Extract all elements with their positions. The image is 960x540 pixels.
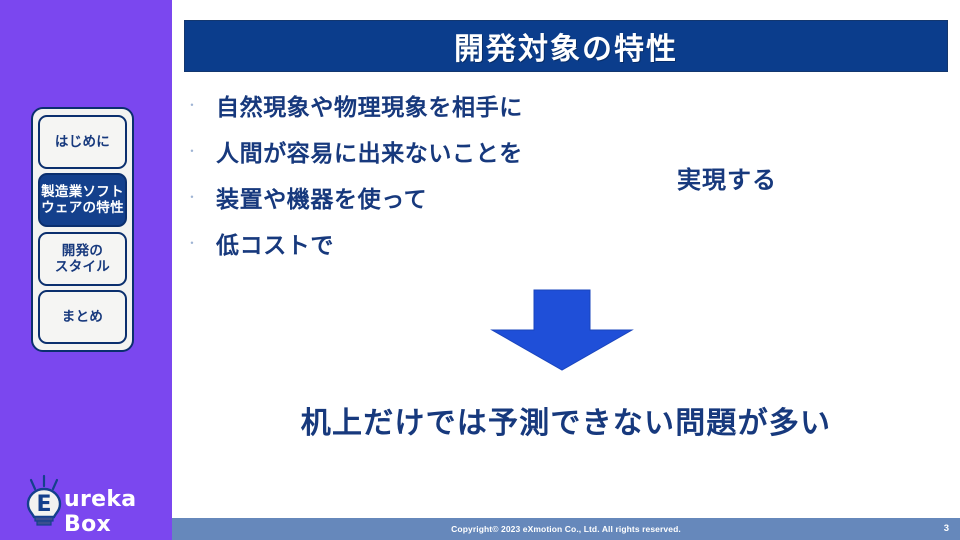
brand-logo: E ureka Box xyxy=(22,474,162,530)
side-emphasis-text: 実現する xyxy=(677,160,777,195)
list-item-label: 低コストで xyxy=(200,226,334,260)
slide-title-bar: 開発対象の特性 xyxy=(184,20,948,72)
list-item: • 自然現象や物理現象を相手に xyxy=(184,82,654,128)
sidebar-item-summary[interactable]: まとめ xyxy=(38,290,127,344)
list-item: • 人間が容易に出来ないことを xyxy=(184,128,654,174)
sidebar-item-hajimeni[interactable]: はじめに xyxy=(38,115,127,169)
list-item-label: 自然現象や物理現象を相手に xyxy=(200,88,523,122)
sidebar-item-label: はじめに xyxy=(55,134,110,150)
sidebar-item-manufacturing-software[interactable]: 製造業ソフト ウェアの特性 xyxy=(38,173,127,227)
conclusion-text: 机上だけでは予測できない問題が多い xyxy=(172,398,960,442)
sidebar-item-label: 開発の スタイル xyxy=(55,243,110,275)
sidebar-item-label: まとめ xyxy=(62,309,103,325)
bullet-marker-icon: • xyxy=(184,101,200,110)
list-item-label: 装置や機器を使って xyxy=(200,180,427,214)
copyright-text: Copyright© 2023 eXmotion Co., Ltd. All r… xyxy=(172,518,960,540)
page-title: 開発対象の特性 xyxy=(454,24,678,68)
sidebar-nav: はじめに 製造業ソフト ウェアの特性 開発の スタイル まとめ xyxy=(31,107,134,352)
bullet-marker-icon: • xyxy=(184,239,200,248)
brand-logo-text: ureka Box xyxy=(64,487,162,537)
list-item: • 装置や機器を使って xyxy=(184,174,654,220)
bullet-marker-icon: • xyxy=(184,147,200,156)
svg-text:E: E xyxy=(36,492,51,517)
list-item-label: 人間が容易に出来ないことを xyxy=(200,134,523,168)
sidebar-item-development-style[interactable]: 開発の スタイル xyxy=(38,232,127,286)
sidebar-item-label: 製造業ソフト ウェアの特性 xyxy=(41,184,124,216)
slide-footer: Copyright© 2023 eXmotion Co., Ltd. All r… xyxy=(172,518,960,540)
bullet-marker-icon: • xyxy=(184,193,200,202)
down-arrow-icon xyxy=(482,288,642,372)
list-item: • 低コストで xyxy=(184,220,654,266)
slide-canvas: はじめに 製造業ソフト ウェアの特性 開発の スタイル まとめ E xyxy=(0,0,960,540)
slide-content: 開発対象の特性 • 自然現象や物理現象を相手に • 人間が容易に出来ないことを … xyxy=(172,0,960,540)
bullet-list: • 自然現象や物理現象を相手に • 人間が容易に出来ないことを • 装置や機器を… xyxy=(184,82,654,266)
page-number: 3 xyxy=(944,518,949,540)
